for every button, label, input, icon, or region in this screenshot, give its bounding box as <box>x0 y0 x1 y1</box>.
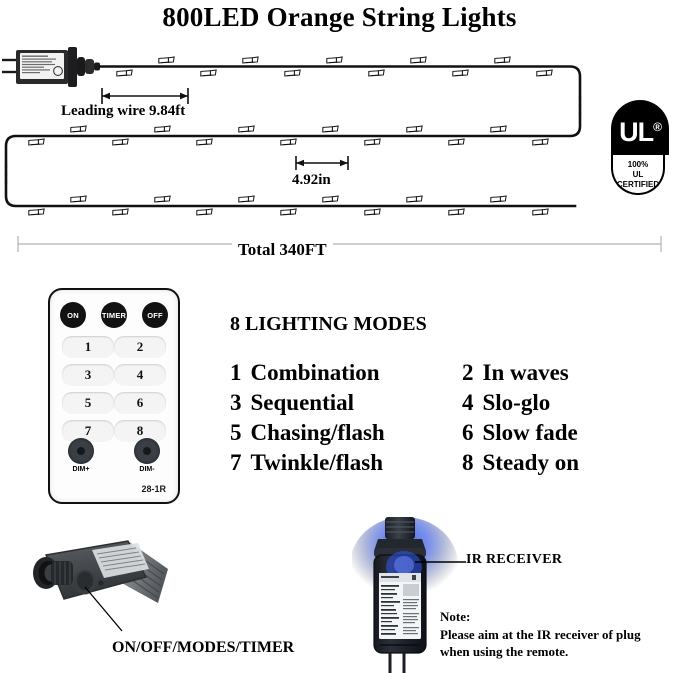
remote-timer-button[interactable]: TIMER <box>101 302 127 328</box>
remote-dim-down-button[interactable]: DIM- <box>132 438 162 473</box>
bulb-spacing-dimension <box>296 156 348 170</box>
mode-item-1: 1Combination <box>230 360 462 386</box>
remote-button-6[interactable]: 6 <box>114 392 166 414</box>
ul-mark-text: UL <box>619 117 653 147</box>
mode-number-6: 6 <box>462 420 474 445</box>
ul-certified-text: 100% UL CERTIFIED <box>611 155 665 195</box>
dim-down-label: DIM- <box>132 466 162 473</box>
ir-receiver-label: IR RECEIVER <box>466 552 562 568</box>
mode-number-8: 8 <box>462 450 474 475</box>
lighting-modes-list: 1Combination 2In waves 3Sequential 4Slo-… <box>230 360 660 480</box>
ul-percent: 100% <box>613 160 663 170</box>
lighting-modes-heading: 8 LIGHTING MODES <box>230 313 427 336</box>
ul-certified-label: UL CERTIFIED <box>613 170 663 190</box>
ul-certification-badge: UL® 100% UL CERTIFIED <box>611 100 669 197</box>
mode-item-7: 7Twinkle/flash <box>230 450 462 476</box>
mode-item-6: 6Slow fade <box>462 420 578 446</box>
mode-name-4: Slo-glo <box>483 390 551 415</box>
mode-item-5: 5Chasing/flash <box>230 420 462 446</box>
dim-up-dial-icon <box>68 438 94 464</box>
total-length-label: Total 340FT <box>232 240 333 260</box>
registered-trademark-icon: ® <box>653 120 661 134</box>
page-title: 800LED Orange String Lights <box>0 2 679 33</box>
mode-name-5: Chasing/flash <box>251 420 385 445</box>
mode-number-1: 1 <box>230 360 242 385</box>
ul-mark: UL® <box>611 100 669 155</box>
mode-name-7: Twinkle/flash <box>251 450 384 475</box>
note-line-2: when using the remote. <box>440 643 641 661</box>
controller-photo <box>18 525 198 635</box>
leading-wire-label: Leading wire 9.84ft <box>61 103 185 120</box>
mode-item-8: 8Steady on <box>462 450 579 476</box>
mode-number-5: 5 <box>230 420 242 445</box>
dim-up-label: DIM+ <box>66 466 96 473</box>
bulb-spacing-label: 4.92in <box>292 172 331 189</box>
remote-button-5[interactable]: 5 <box>62 392 114 414</box>
leading-wire-dimension <box>102 88 188 104</box>
remote-dim-up-button[interactable]: DIM+ <box>66 438 96 473</box>
controller-button-label: ON/OFF/MODES/TIMER <box>112 639 294 657</box>
mode-name-1: Combination <box>251 360 380 385</box>
remote-off-button[interactable]: OFF <box>142 302 168 328</box>
mode-item-2: 2In waves <box>462 360 569 386</box>
mode-row: 7Twinkle/flash 8Steady on <box>230 450 660 476</box>
dim-down-dial-icon <box>134 438 160 464</box>
remote-dimmer-row: DIM+ DIM- <box>66 438 162 473</box>
remote-top-button-row: ON TIMER OFF <box>60 302 168 328</box>
mode-number-4: 4 <box>462 390 474 415</box>
note-line-1: Please aim at the IR receiver of plug <box>440 626 641 644</box>
remote-button-1[interactable]: 1 <box>62 336 114 358</box>
mode-name-3: Sequential <box>251 390 355 415</box>
mode-row: 3Sequential 4Slo-glo <box>230 390 660 416</box>
remote-on-button[interactable]: ON <box>60 302 86 328</box>
remote-button-3[interactable]: 3 <box>62 364 114 386</box>
mode-row: 1Combination 2In waves <box>230 360 660 386</box>
mode-name-6: Slow fade <box>483 420 578 445</box>
ir-receiver-note: Note: Please aim at the IR receiver of p… <box>440 608 641 661</box>
mode-number-7: 7 <box>230 450 242 475</box>
power-adapter-icon <box>2 47 100 87</box>
mode-item-4: 4Slo-glo <box>462 390 550 416</box>
mode-item-3: 3Sequential <box>230 390 462 416</box>
remote-model-number: 28-1R <box>141 484 166 494</box>
mode-number-3: 3 <box>230 390 242 415</box>
mode-row: 5Chasing/flash 6Slow fade <box>230 420 660 446</box>
remote-button-2[interactable]: 2 <box>114 336 166 358</box>
mode-name-8: Steady on <box>483 450 580 475</box>
string-light-diagram <box>0 38 679 268</box>
mode-name-2: In waves <box>483 360 569 385</box>
total-length-dimension <box>18 236 661 252</box>
mode-number-2: 2 <box>462 360 474 385</box>
remote-control: ON TIMER OFF 1 2 3 4 5 6 7 8 DIM+ DIM- 2… <box>48 288 180 504</box>
product-infographic: 800LED Orange String Lights <box>0 0 679 673</box>
remote-button-4[interactable]: 4 <box>114 364 166 386</box>
note-heading: Note: <box>440 608 641 626</box>
remote-number-pad: 1 2 3 4 5 6 7 8 <box>62 336 166 442</box>
